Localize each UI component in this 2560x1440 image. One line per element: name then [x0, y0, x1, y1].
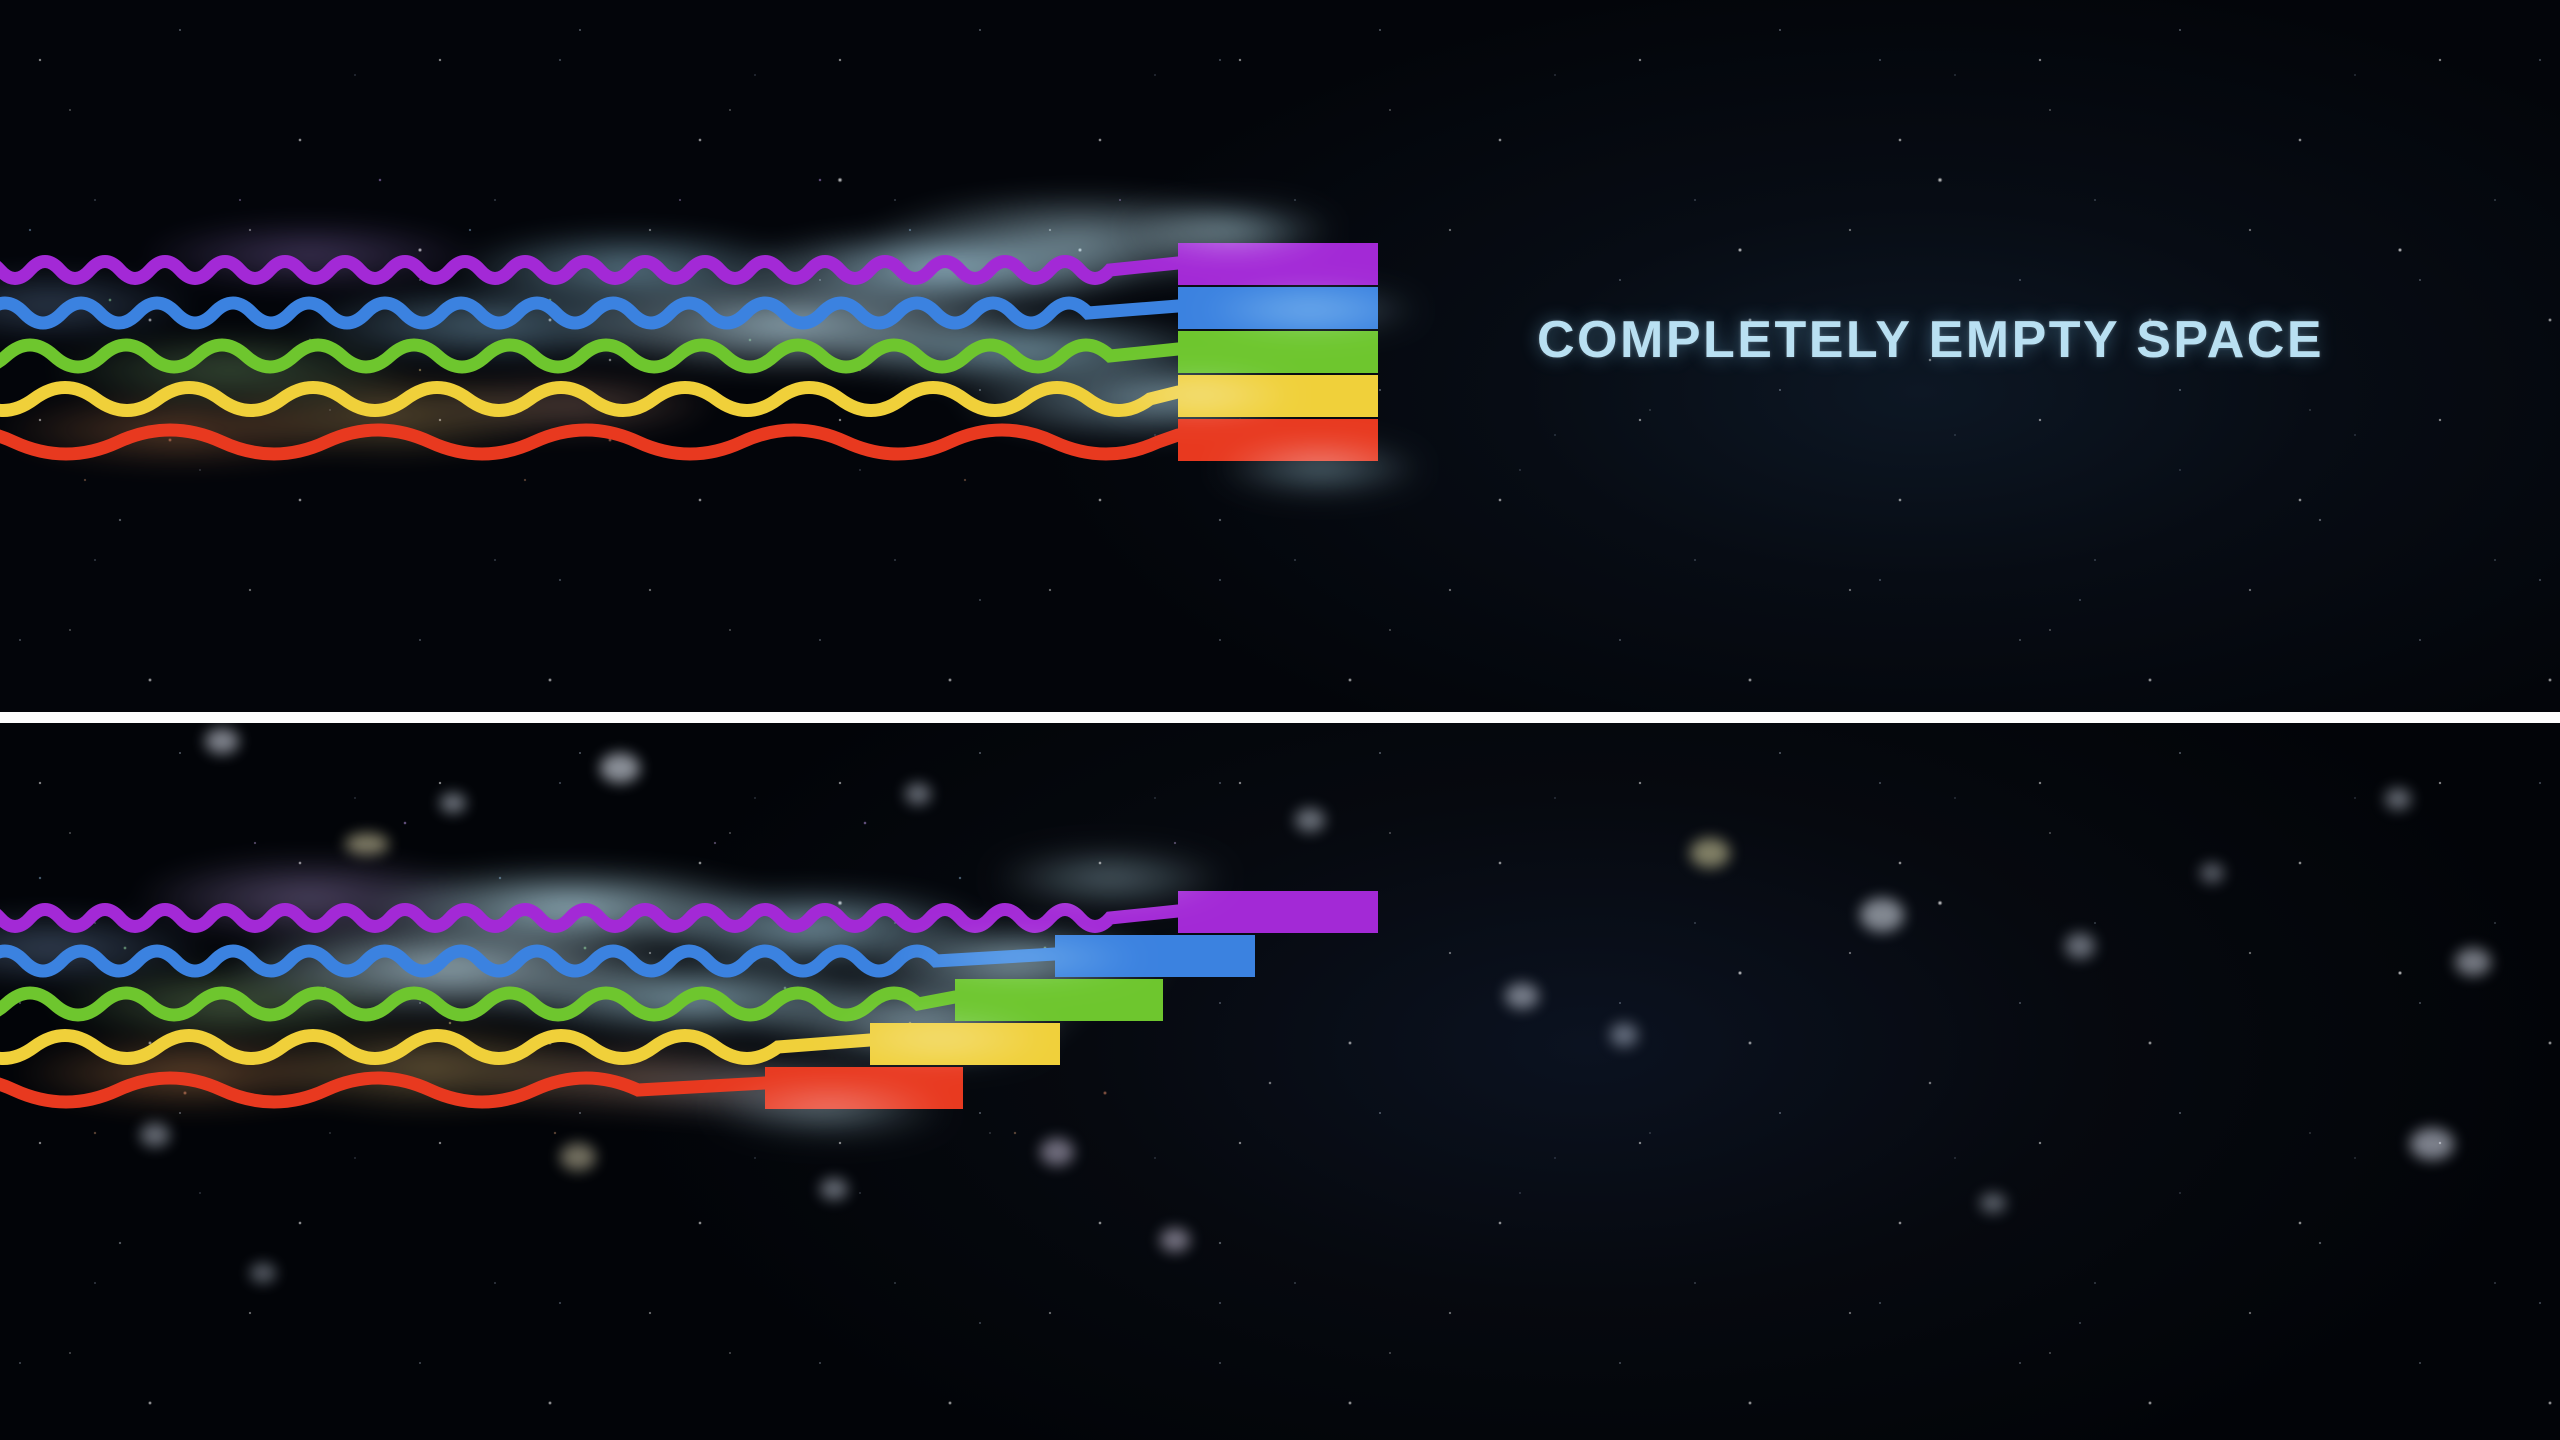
- page-title-empty-space: COMPLETELY EMPTY SPACE: [1537, 310, 2324, 370]
- wavelength-curves-missing: [0, 828, 1430, 1158]
- bar-yellow-missing: [870, 1023, 1060, 1065]
- panel-divider: [0, 712, 2560, 723]
- bar-violet-empty: [1178, 243, 1378, 285]
- bar-blue-empty: [1178, 287, 1378, 329]
- infographic-stage: COMPLETELY EMPTY SPACE: [0, 0, 2560, 1440]
- bar-blue-missing: [1055, 935, 1255, 977]
- bar-red-missing: [765, 1067, 963, 1109]
- signal-beam-empty: [0, 180, 1400, 510]
- bar-red-empty: [1178, 419, 1378, 461]
- panel-empty-space: COMPLETELY EMPTY SPACE: [0, 0, 2560, 712]
- bar-green-missing: [955, 979, 1163, 1021]
- signal-beam-missing: [0, 828, 1430, 1158]
- bar-yellow-empty: [1178, 375, 1378, 417]
- bar-green-empty: [1178, 331, 1378, 373]
- bar-violet-missing: [1178, 891, 1378, 933]
- panel-missing-matter: When travelling through missing matter, …: [0, 723, 2560, 1440]
